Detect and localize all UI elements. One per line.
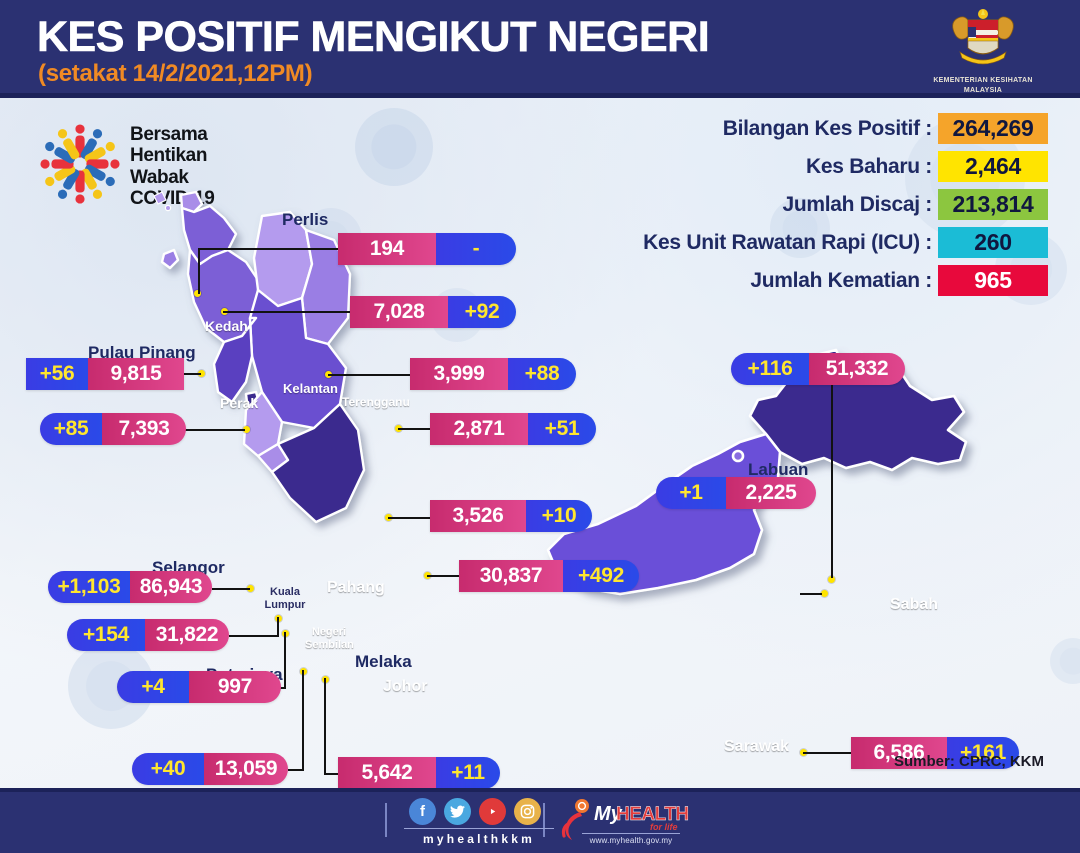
map-label-perak: Perak (220, 395, 258, 411)
leader-line-sabah (831, 370, 833, 578)
footer-divider (0, 788, 1080, 792)
pill-pahang-total: 3,526 (430, 500, 526, 532)
map-label-kuala-lumpur: KualaLumpur (263, 586, 307, 611)
state-shape-pulau-pinang (162, 250, 178, 268)
leader-line-terengganu (398, 428, 430, 430)
leader-line-perlis (198, 248, 200, 294)
twitter-icon[interactable] (444, 798, 471, 825)
map-label-kelantan: Kelantan (283, 381, 338, 396)
pill-selangor-total: 86,943 (130, 571, 212, 603)
pill-putrajaya-total: 997 (189, 671, 281, 703)
leader-line-kuala-lumpur (277, 617, 279, 636)
footer-separator-left (385, 803, 387, 837)
leader-line-putrajaya (284, 632, 286, 688)
leader-line-labuan (800, 593, 822, 595)
pill-putrajaya-delta: +4 (117, 671, 189, 703)
pill-kuala-lumpur-delta: +154 (67, 619, 145, 651)
pill-terengganu-total: 2,871 (430, 413, 528, 445)
instagram-icon[interactable] (514, 798, 541, 825)
leader-line-negeri-sembilan (302, 670, 304, 770)
pill-selangor-delta: +1,103 (48, 571, 130, 603)
map-label-pahang: Pahang (327, 579, 385, 597)
pill-pulau-pinang-delta: +56 (26, 358, 88, 390)
pill-negeri-sembilan-total: 13,059 (204, 753, 288, 785)
pill-johor: 30,837 +492 (459, 560, 639, 592)
callout-title-perlis: Perlis (282, 210, 328, 230)
pill-labuan-total: 2,225 (726, 477, 816, 509)
map-label-sabah: Sabah (890, 596, 938, 614)
pill-perak-total: 7,393 (102, 413, 186, 445)
pill-pulau-pinang: +56 9,815 (26, 358, 184, 390)
map-label-negeri-sembilan: NegeriSembilan (305, 626, 353, 651)
pill-perlis-total: 194 (338, 233, 436, 265)
source-note: Sumber: CPRC, KKM (894, 753, 1044, 770)
myhealth-url: www.myhealth.gov.my (582, 833, 680, 845)
pill-pulau-pinang-total: 9,815 (88, 358, 184, 390)
pill-labuan-delta: +1 (656, 477, 726, 509)
leader-line-perlis (198, 248, 338, 250)
pill-sabah: +116 51,332 (731, 353, 905, 385)
crest-label-line1: KEMENTERIAN KESIHATAN (928, 76, 1038, 85)
social-links[interactable]: f (409, 798, 541, 825)
pill-putrajaya: +4 997 (117, 671, 281, 703)
pill-perak-delta: +85 (40, 413, 102, 445)
page-subtitle: (setakat 14/2/2021,12PM) (38, 62, 312, 86)
leader-line-pulau-pinang (183, 373, 201, 375)
pill-selangor: +1,103 86,943 (48, 571, 212, 603)
leader-line-kuala-lumpur (229, 635, 279, 637)
pill-perlis: 194 - (338, 233, 516, 265)
east-malaysia-map (540, 338, 990, 698)
state-shape-labuan (733, 451, 743, 461)
youtube-icon[interactable] (479, 798, 506, 825)
facebook-icon[interactable]: f (409, 798, 436, 825)
map-label-kedah: Kedah (205, 318, 248, 334)
pill-kedah-delta: +92 (448, 296, 516, 328)
island-langkawi-small (165, 205, 170, 210)
page-header: KES POSITIF MENGIKUT NEGERI (setakat 14/… (0, 0, 1080, 93)
pill-pahang-delta: +10 (526, 500, 592, 532)
malaysia-coat-of-arms-icon (946, 8, 1020, 70)
callout-title-melaka: Melaka (355, 652, 412, 672)
map-dot-labuan (821, 590, 828, 597)
pill-negeri-sembilan: +40 13,059 (132, 753, 288, 785)
pill-sabah-total: 51,332 (809, 353, 905, 385)
pill-pahang: 3,526 +10 (430, 500, 592, 532)
pill-terengganu-delta: +51 (528, 413, 596, 445)
pill-kuala-lumpur-total: 31,822 (145, 619, 229, 651)
pill-kedah-total: 7,028 (350, 296, 448, 328)
map-label-sarawak: Sarawak (724, 738, 789, 756)
pill-kuala-lumpur: +154 31,822 (67, 619, 229, 651)
pill-labuan: +1 2,225 (656, 477, 816, 509)
pill-kelantan: 3,999 +88 (410, 358, 576, 390)
pill-kelantan-total: 3,999 (410, 358, 508, 390)
map-label-johor: Johor (383, 678, 427, 696)
pill-melaka-delta: +11 (436, 757, 500, 789)
pill-negeri-sembilan-delta: +40 (132, 753, 204, 785)
pill-melaka: 5,642 +11 (338, 757, 500, 789)
pill-kedah: 7,028 +92 (350, 296, 516, 328)
map-label-terengganu: Terengganu (342, 395, 410, 409)
leader-line-johor (427, 575, 459, 577)
leader-line-kedah (223, 311, 351, 313)
pill-melaka-total: 5,642 (338, 757, 436, 789)
social-handle: myhealthkkm (404, 828, 554, 846)
pill-sabah-delta: +116 (731, 353, 809, 385)
pill-kelantan-delta: +88 (508, 358, 576, 390)
pill-terengganu: 2,871 +51 (430, 413, 596, 445)
myhealth-logo: My HEALTH for life www.myhealth.gov.my (560, 795, 680, 845)
pill-perlis-delta: - (436, 233, 516, 265)
pill-johor-total: 30,837 (459, 560, 563, 592)
myhealth-tagline: for life (650, 822, 678, 832)
pill-perak: +85 7,393 (40, 413, 186, 445)
island-langkawi (154, 192, 166, 204)
leader-line-melaka (324, 678, 326, 774)
page-title: KES POSITIF MENGIKUT NEGERI (37, 16, 709, 59)
leader-line-negeri-sembilan (288, 769, 304, 771)
leader-line-perak (185, 429, 245, 431)
leader-line-pahang (388, 517, 430, 519)
leader-line-sarawak (803, 752, 851, 754)
malaysia-map-area: Kedah Perak Kelantan Terengganu Pahang K… (0, 98, 1080, 788)
leader-line-melaka (324, 773, 338, 775)
leader-line-kelantan (328, 374, 410, 376)
pill-johor-delta: +492 (563, 560, 639, 592)
leader-line-selangor (212, 588, 250, 590)
kkm-crest: KEMENTERIAN KESIHATAN MALAYSIA (928, 8, 1038, 96)
